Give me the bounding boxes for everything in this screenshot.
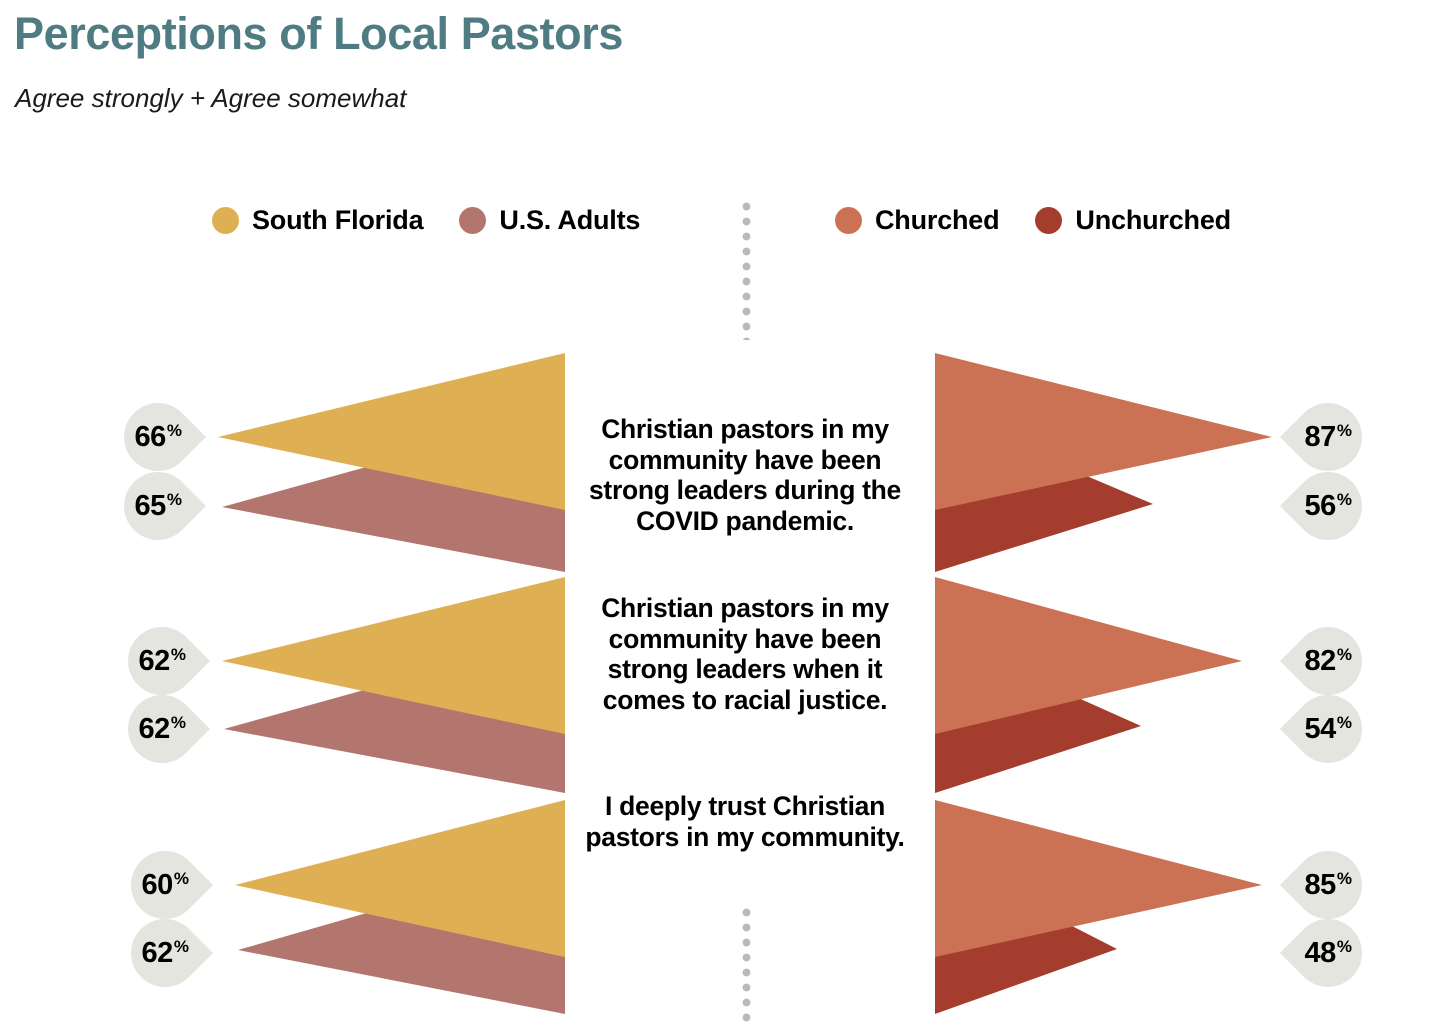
value-badge-row2-unchurched: 48% xyxy=(1294,919,1362,987)
value-text: 62% xyxy=(139,715,186,744)
statement-row0: Christian pastors in my community have b… xyxy=(565,414,925,536)
value-badge-row1-us-adults: 62% xyxy=(128,695,196,763)
value-badge-row1-unchurched: 54% xyxy=(1294,695,1362,763)
value-badge-row1-churched: 82% xyxy=(1294,627,1362,695)
value-text: 65% xyxy=(135,492,182,521)
value-badge-row1-south-florida: 62% xyxy=(128,627,196,695)
value-text: 60% xyxy=(142,871,189,900)
value-text: 56% xyxy=(1305,492,1352,521)
value-text: 87% xyxy=(1305,423,1352,452)
value-badge-row0-unchurched: 56% xyxy=(1294,472,1362,540)
value-badge-row0-us-adults: 65% xyxy=(124,472,192,540)
statement-row2: I deeply trust Christian pastors in my c… xyxy=(565,791,925,852)
value-text: 62% xyxy=(142,939,189,968)
value-text: 82% xyxy=(1305,647,1352,676)
value-badge-row0-south-florida: 66% xyxy=(124,403,192,471)
statement-row1: Christian pastors in my community have b… xyxy=(565,593,925,715)
value-text: 48% xyxy=(1305,939,1352,968)
value-text: 85% xyxy=(1305,871,1352,900)
value-text: 62% xyxy=(139,647,186,676)
value-badge-row0-churched: 87% xyxy=(1294,403,1362,471)
value-text: 66% xyxy=(135,423,182,452)
value-badge-row2-us-adults: 62% xyxy=(131,919,199,987)
value-text: 54% xyxy=(1305,715,1352,744)
bar-row2-churched xyxy=(935,800,1262,957)
value-badge-row2-south-florida: 60% xyxy=(131,851,199,919)
value-badge-row2-churched: 85% xyxy=(1294,851,1362,919)
